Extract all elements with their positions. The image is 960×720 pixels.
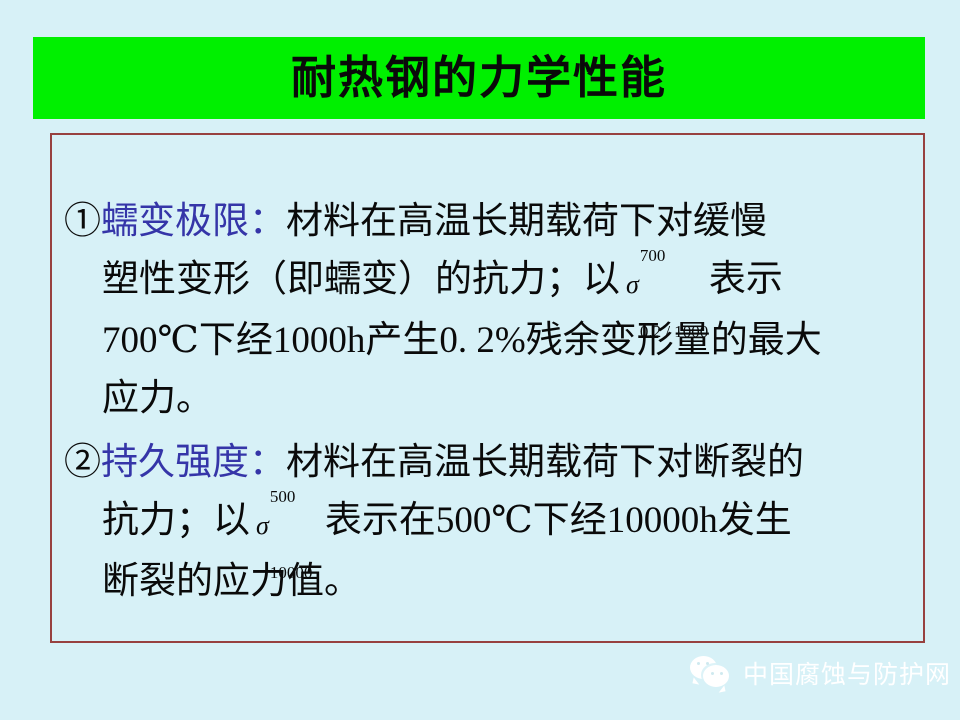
bullet-1-text-5: 应力。 [102,378,213,419]
bullet-1-colon: ： [249,201,286,242]
bullet-2-line-2: 抗力；以σ50010000表示在500℃下经10000h发生 [64,492,911,553]
bullet-2-marker: ② [64,442,101,483]
watermark-text: 中国腐蚀与防护网 [743,655,951,691]
sigma-symbol-2: σ50010000 [256,497,269,555]
sigma-subscript-1: 0.2 / 1000 [640,303,708,361]
sigma-symbol-1: σ7000.2 / 1000 [626,256,639,314]
sigma-superscript-1: 700 [640,227,666,285]
sigma-base-2: σ [256,511,269,540]
bullet-1-line-2: 塑性变形（即蠕变）的抗力；以σ7000.2 / 1000表示 [64,251,911,312]
bullet-1-line-1: ①蠕变极限：材料在高温长期载荷下对缓慢 [64,193,911,251]
sigma-subscript-2: 10000 [270,544,313,602]
bullet-1-line-4: 应力。 [64,370,911,428]
bullet-1-text-2: 塑性变形（即蠕变）的抗力；以 [102,259,620,300]
slide-canvas: 耐热钢的力学性能 ①蠕变极限：材料在高温长期载荷下对缓慢 塑性变形（即蠕变）的抗… [0,0,960,720]
bullet-2-text-4: 断裂的应力值。 [102,561,361,602]
bullet-2-text-1: 材料在高温长期载荷下对断裂的 [286,442,804,483]
content-box: ①蠕变极限：材料在高温长期载荷下对缓慢 塑性变形（即蠕变）的抗力；以σ7000.… [50,133,925,643]
page-title: 耐热钢的力学性能 [291,56,667,101]
bullet-2-line-3: 断裂的应力值。 [64,553,911,611]
bullet-1-text-4: 700℃下经1000h产生0. 2%残余变形量的最大 [102,320,822,361]
bullet-1-text-1: 材料在高温长期载荷下对缓慢 [286,201,767,242]
bullet-2-text-2: 抗力；以 [102,500,250,541]
bullet-1-text-3: 表示 [709,259,783,300]
watermark: 中国腐蚀与防护网 [690,655,951,691]
bullet-item-2: ②持久强度：材料在高温长期载荷下对断裂的 抗力；以σ50010000表示在500… [64,434,911,611]
sigma-base-1: σ [626,270,639,299]
bullet-1-term: 蠕变极限 [101,201,249,242]
bullet-item-1: ①蠕变极限：材料在高温长期载荷下对缓慢 塑性变形（即蠕变）的抗力；以σ7000.… [64,193,911,428]
sigma-superscript-2: 500 [270,468,296,526]
bullet-2-text-3: 表示在500℃下经10000h发生 [325,500,792,541]
bullet-1-line-3: 700℃下经1000h产生0. 2%残余变形量的最大 [64,312,911,370]
title-banner: 耐热钢的力学性能 [33,37,925,119]
bullet-1-marker: ① [64,201,101,242]
bullet-2-line-1: ②持久强度：材料在高温长期载荷下对断裂的 [64,434,911,492]
wechat-icon [690,655,734,691]
bullet-2-term: 持久强度 [101,442,249,483]
